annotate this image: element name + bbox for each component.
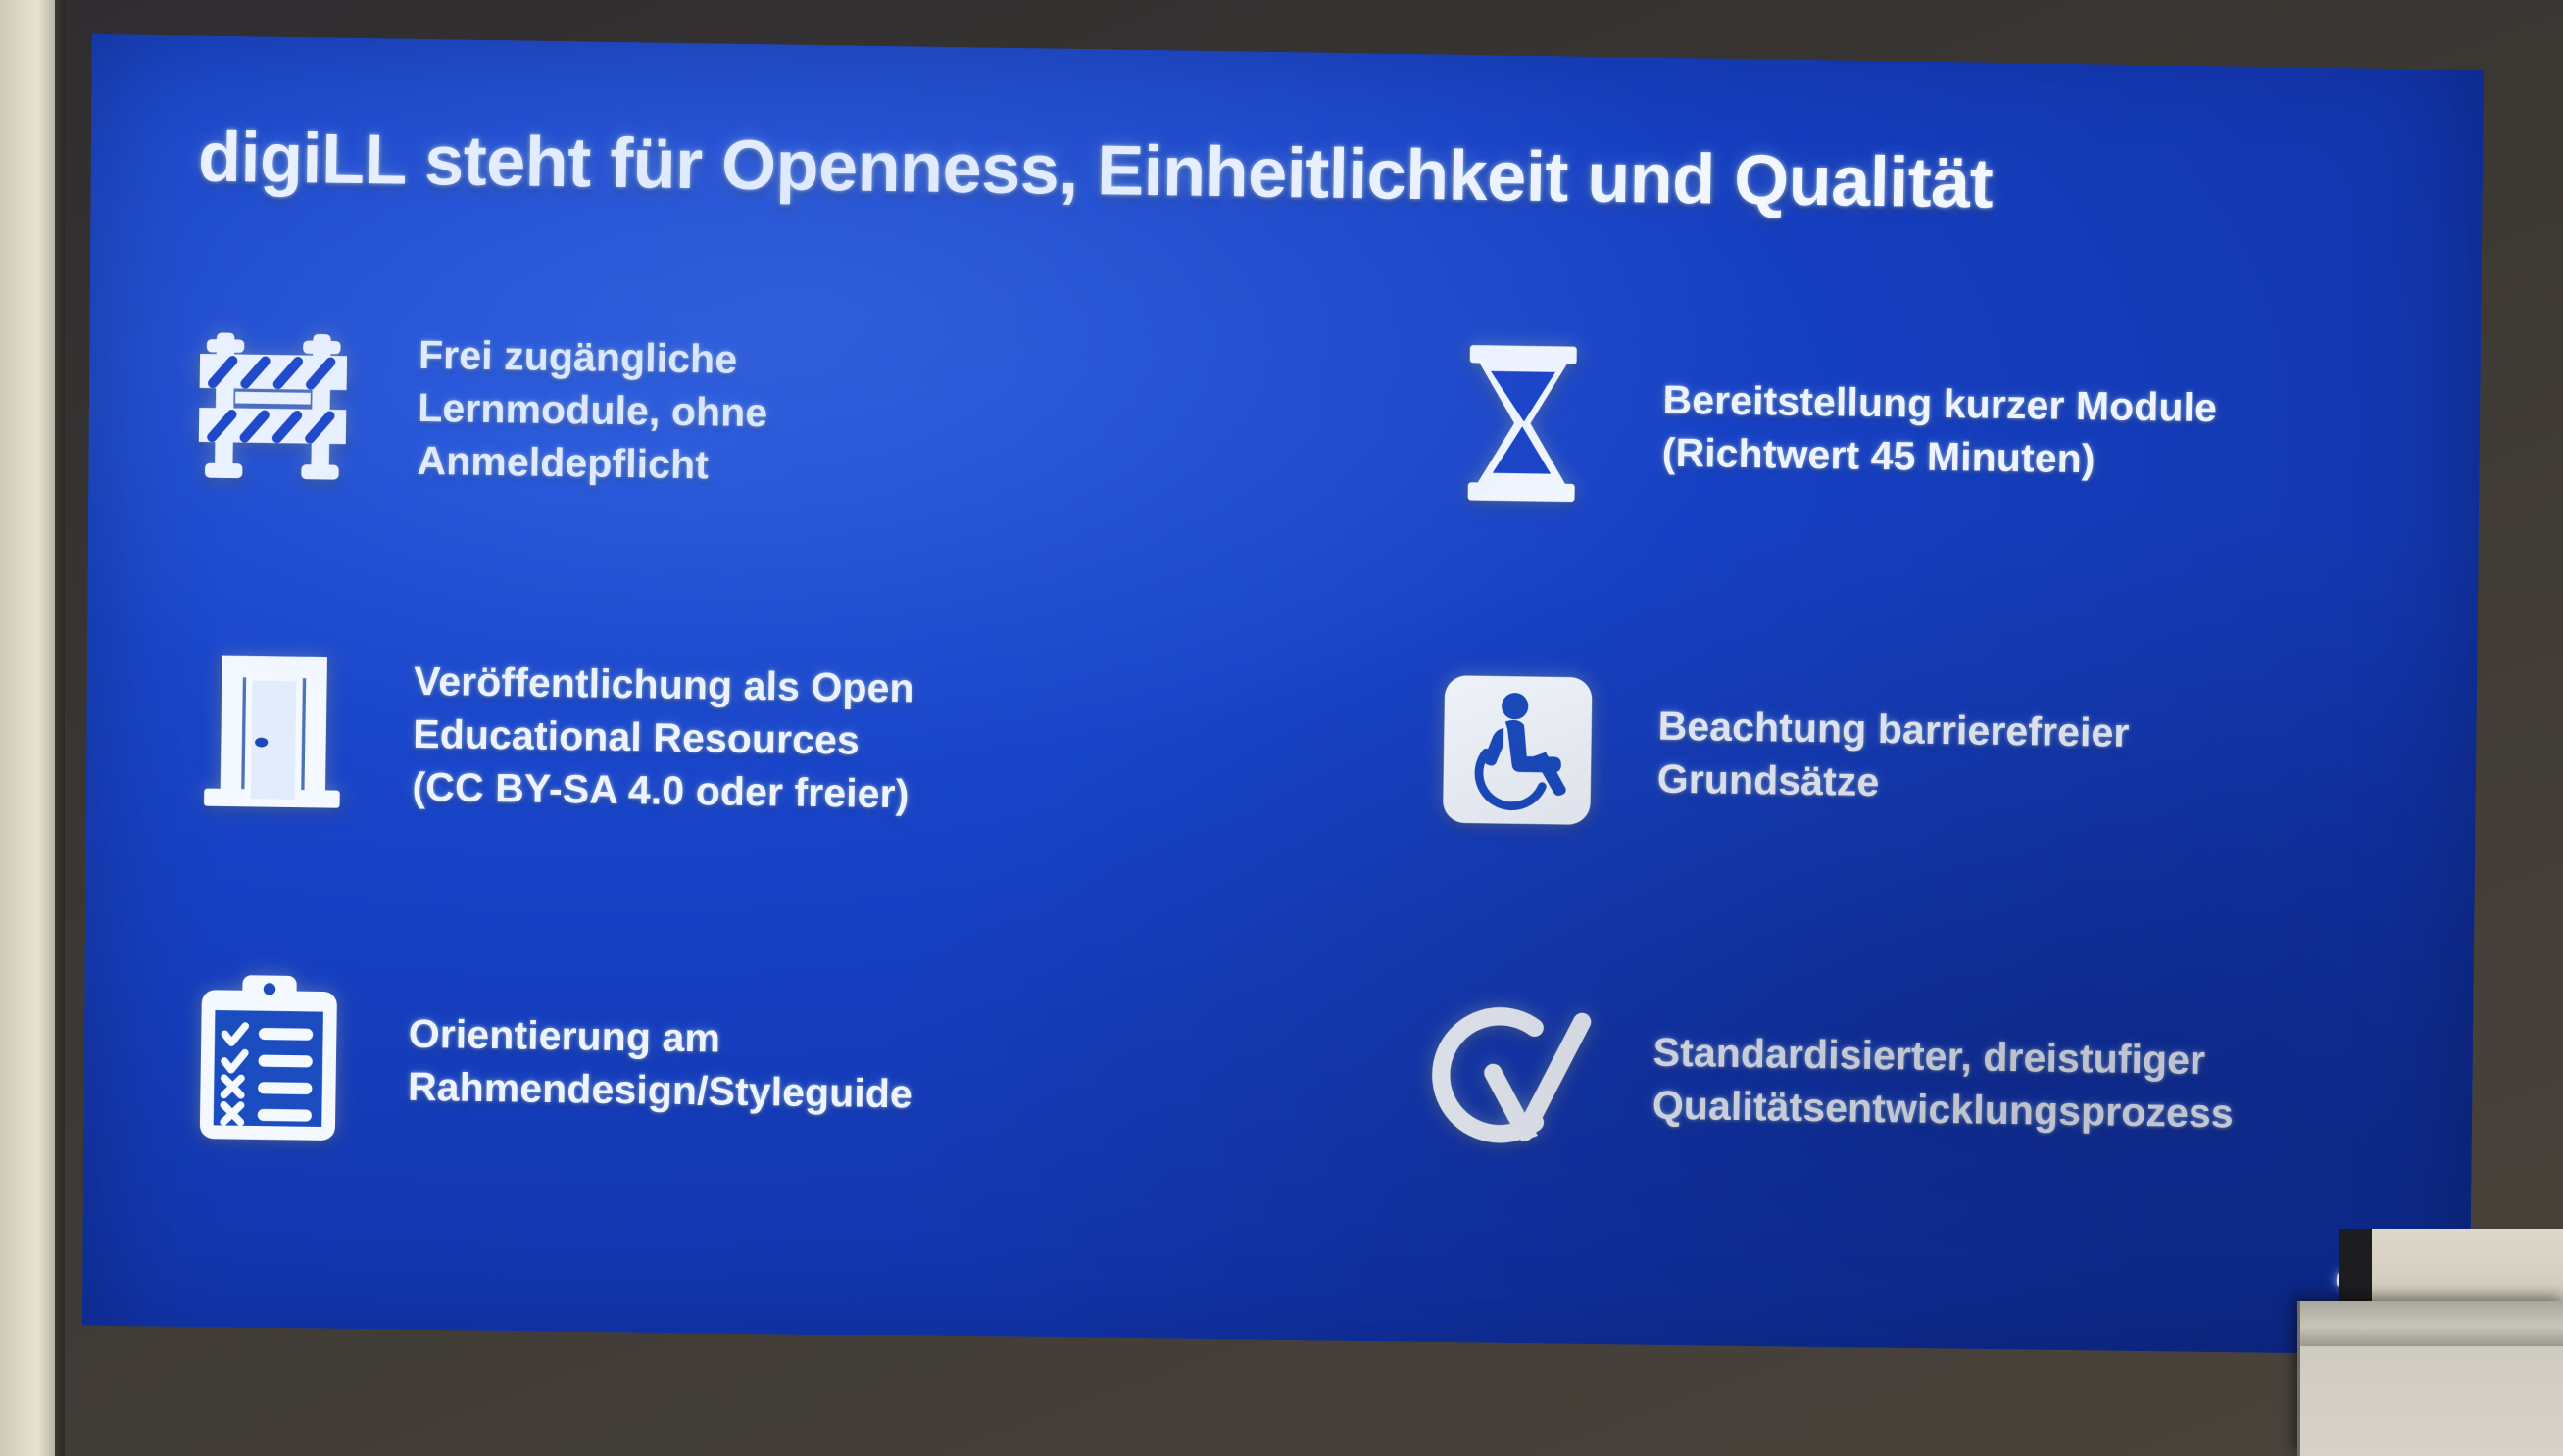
cycle-checkmark-icon [1418, 982, 1607, 1171]
wall-strip [0, 0, 55, 1456]
feature-line: Lernmodule, ohne [418, 380, 768, 438]
wheelchair-accessibility-icon [1423, 655, 1612, 845]
feature-item-orientierung-styleguide: Orientierung am Rahmendesign/Styleguide [173, 894, 1256, 1237]
feature-line: (CC BY-SA 4.0 oder freier) [412, 760, 912, 821]
feature-text: Orientierung am Rahmendesign/Styleguide [408, 1007, 913, 1121]
flipchart-board [2297, 1301, 2563, 1456]
road-barrier-icon [183, 311, 372, 500]
feature-line: Grundsätze [1656, 752, 2129, 812]
open-door-icon [178, 637, 368, 826]
feature-line: Frei zugängliche [419, 327, 769, 385]
feature-line: Anmeldepflicht [417, 434, 767, 492]
feature-text: Frei zugängliche Lernmodule, ohne Anmeld… [417, 327, 768, 492]
feature-text: Veröffentlichung als Open Educational Re… [412, 655, 914, 821]
feature-item-qualitaetsprozess: Standardisierter, dreistufiger Qualitäts… [1319, 910, 2402, 1253]
flipchart-top-rail [2300, 1301, 2563, 1346]
feature-line: Beachtung barrierefreier [1657, 700, 2130, 759]
feature-line: Educational Resources [413, 707, 913, 768]
feature-item-frei-zugaengliche: Frei zugängliche Lernmodule, ohne Anmeld… [182, 240, 1265, 583]
feature-item-barrierefreiheit: Beachtung barrierefreier Grundsätze [1324, 584, 2407, 927]
feature-text: Bereitstellung kurzer Module (Richtwert … [1661, 372, 2217, 487]
page-title: digiLL steht für Openness, Einheitlichke… [197, 118, 2354, 230]
feature-line: Orientierung am [408, 1007, 913, 1068]
hourglass-icon [1428, 329, 1617, 518]
feature-item-bereitstellung-kurzer-module: Bereitstellung kurzer Module (Richtwert … [1329, 258, 2412, 601]
feature-line: Veröffentlichung als Open [414, 655, 914, 715]
feature-item-veroeffentlichung-oer: Veröffentlichung als Open Educational Re… [177, 567, 1260, 910]
feature-line: (Richtwert 45 Minuten) [1661, 425, 2216, 486]
feature-text: Beachtung barrierefreier Grundsätze [1656, 700, 2129, 812]
feature-line: Standardisierter, dreistufiger [1652, 1026, 2235, 1088]
projected-slide: digiLL steht für Openness, Einheitlichke… [82, 14, 2484, 1385]
feature-line: Qualitätsentwicklungsprozess [1651, 1079, 2234, 1141]
feature-text: Standardisierter, dreistufiger Qualitäts… [1651, 1026, 2234, 1141]
feature-line: Rahmendesign/Styleguide [408, 1060, 913, 1121]
feature-grid: Frei zugängliche Lernmodule, ohne Anmeld… [173, 240, 2412, 1253]
clipboard-checklist-icon [173, 964, 363, 1153]
feature-line: Bereitstellung kurzer Module [1662, 372, 2217, 433]
flipchart-back-panel [2372, 1229, 2563, 1305]
presentation-room: digiLL steht für Openness, Einheitlichke… [0, 0, 2563, 1456]
